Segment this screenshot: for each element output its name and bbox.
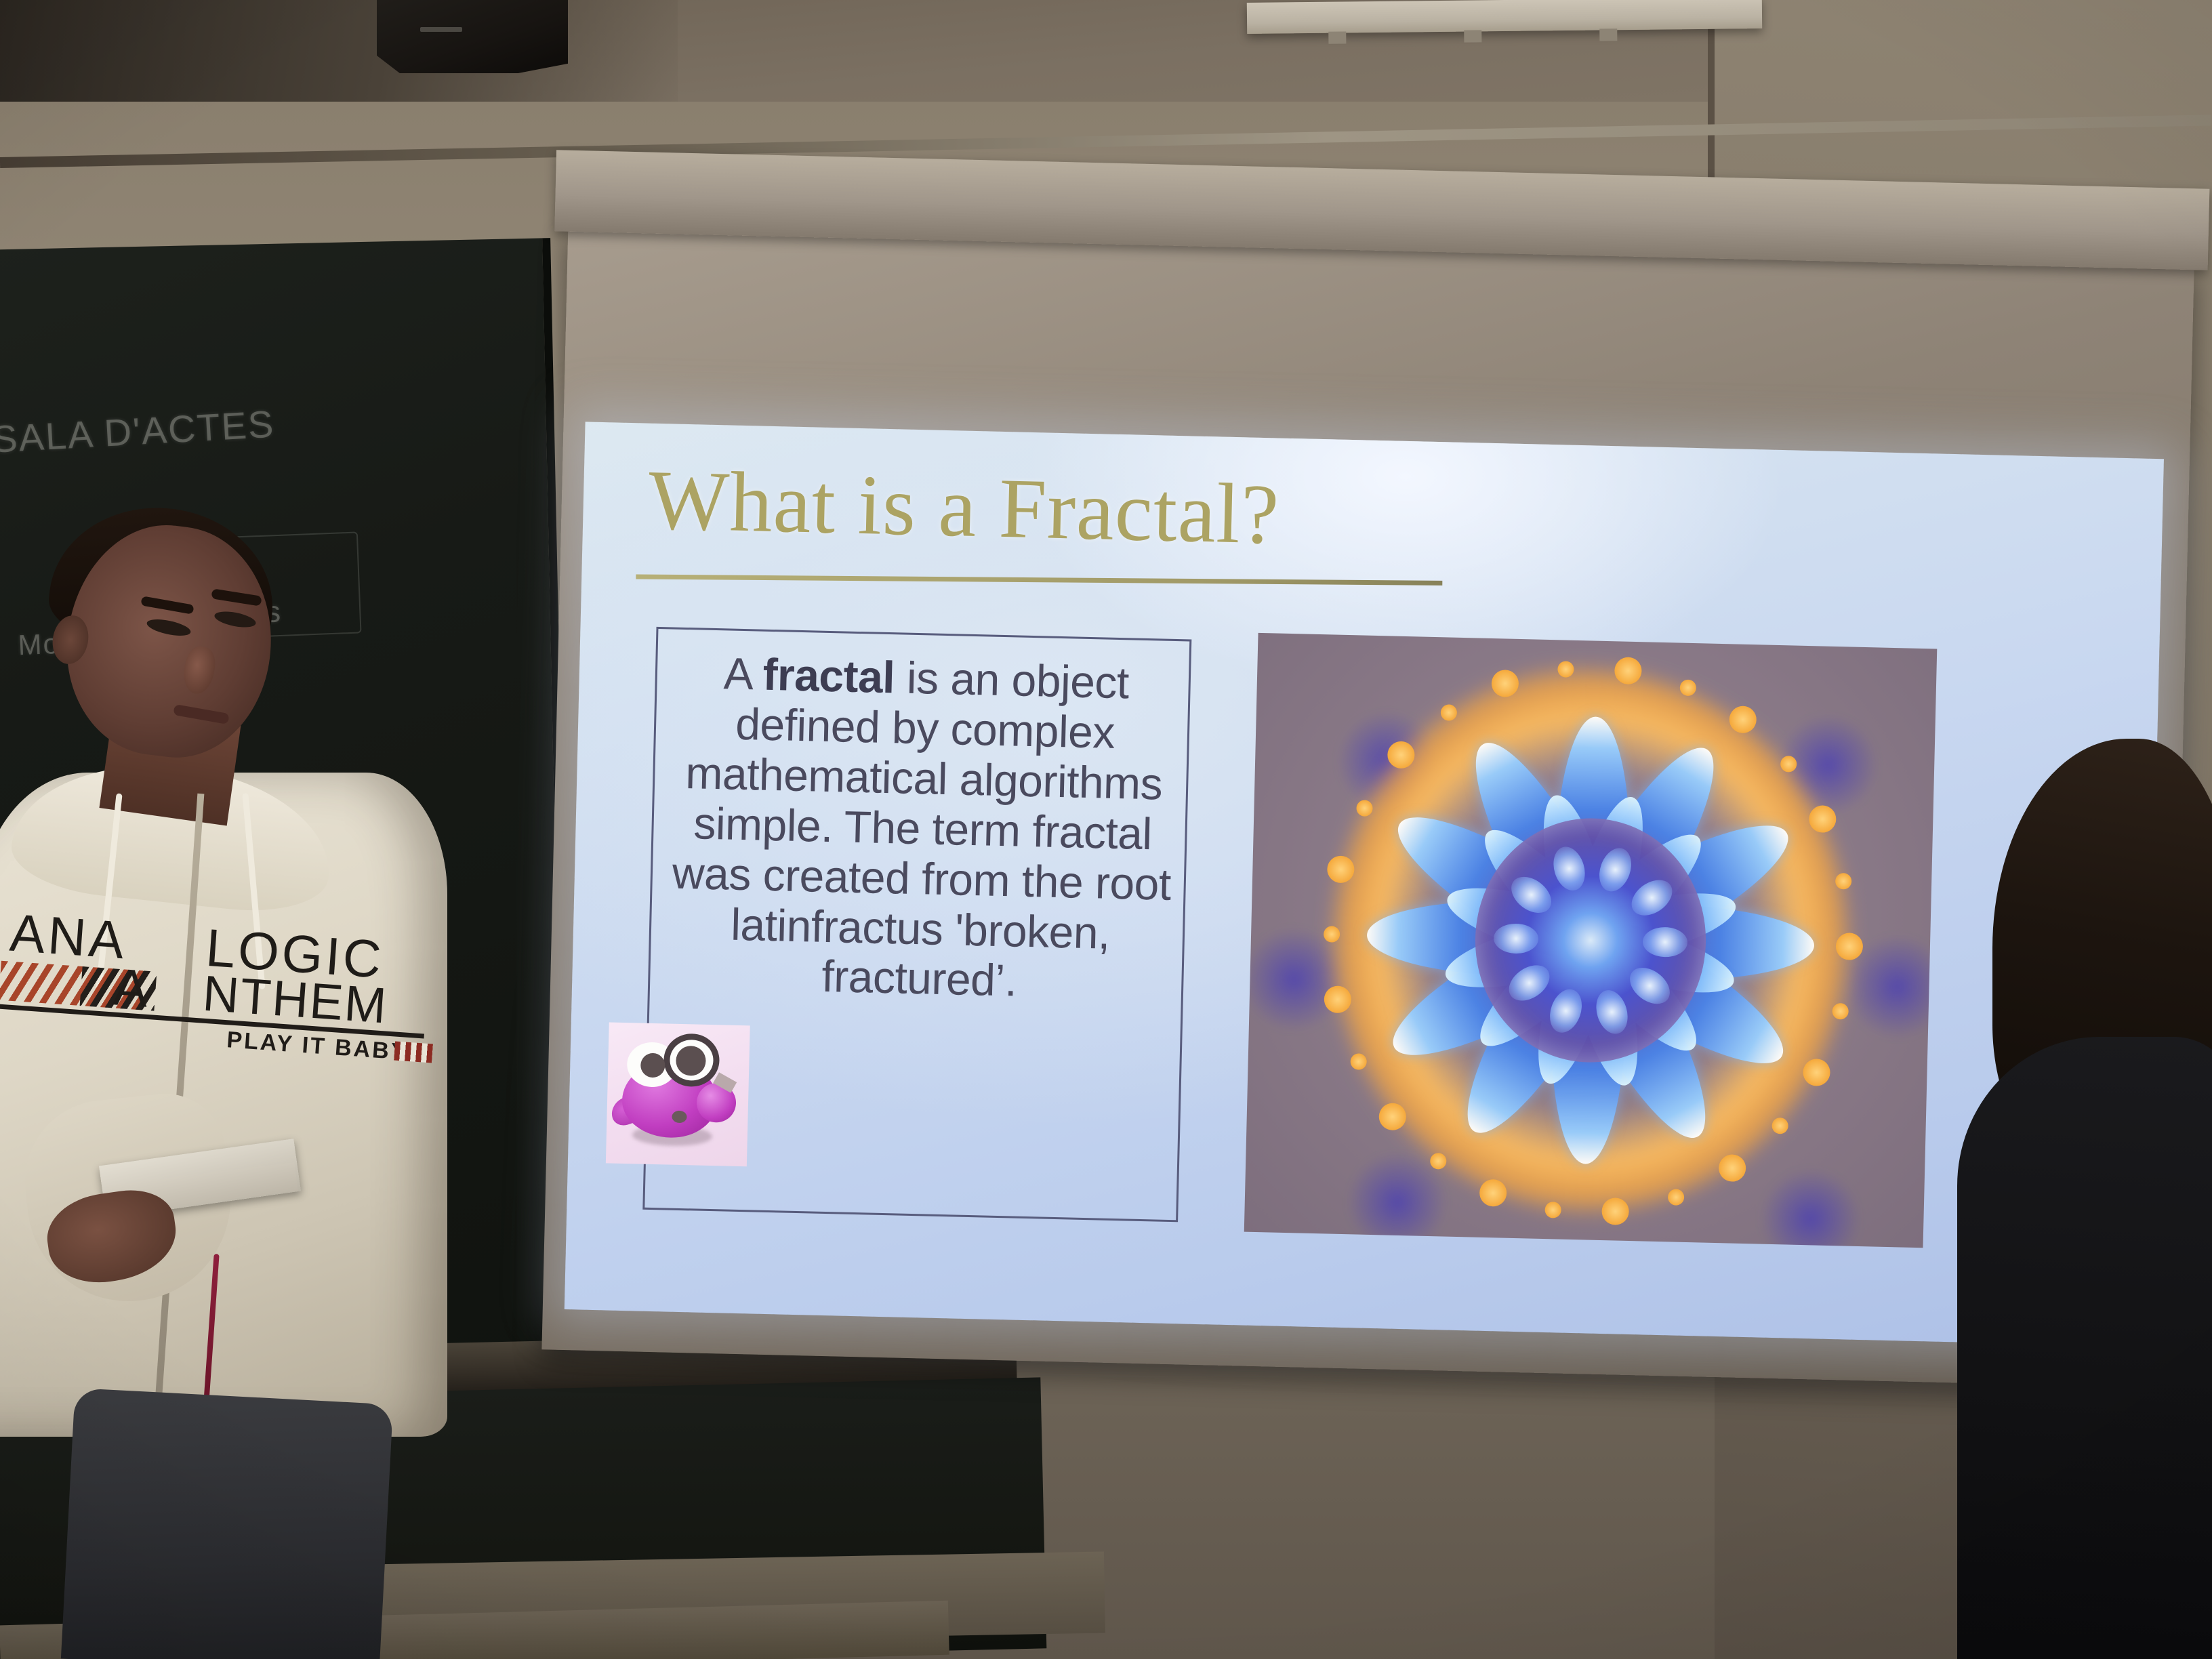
- fractal-edge-bead: [1350, 1053, 1367, 1070]
- foreground-person: [1952, 739, 2212, 1659]
- fractal-edge-bead: [1680, 680, 1697, 697]
- fractal-edge-bead: [1544, 1202, 1561, 1218]
- classroom-scene: SALA D'ACTES Mo Viernes 9 What is a Frac…: [0, 0, 2212, 1659]
- hoodie-logo: ANA LOGIC A NTHEM PLAY IT BABY: [0, 901, 438, 1073]
- student-jeans: [61, 1388, 393, 1659]
- fractal-edge-bead: [1809, 805, 1837, 833]
- fractal-inner-petals: [1258, 633, 1938, 649]
- fractal-bg-blob: [1759, 1167, 1862, 1248]
- fractal-outer-petals: [1258, 633, 1938, 649]
- fractal-edge-bead: [1668, 1189, 1685, 1206]
- speaker-badge: [420, 27, 462, 32]
- hoodie-brand-a: A: [112, 958, 150, 1019]
- presentation-slide: What is a Fractal? A fractal is an objec…: [565, 422, 2164, 1347]
- chalk-title-text: SALA D'ACTES: [0, 402, 276, 462]
- slide-title: What is a Fractal?: [647, 452, 1280, 565]
- wall-speaker: [377, 0, 568, 73]
- fractal-edge-bead: [1719, 1154, 1746, 1182]
- body-bold-word: fractal: [762, 649, 895, 703]
- fractal-edge-beads: [1258, 633, 1938, 649]
- hoodie-logo-flag: [394, 1042, 433, 1063]
- body-lead: A: [723, 648, 763, 699]
- wall-seam: [1708, 0, 1715, 203]
- slide-title-underline: [636, 575, 1442, 586]
- fractal-core-dots: [1258, 633, 1938, 649]
- foreground-person-torso: [1957, 1037, 2212, 1659]
- mascot-image: [606, 1022, 750, 1166]
- body-rest: is an object defined by complex mathemat…: [672, 652, 1171, 1006]
- fractal-edge-bead: [1832, 1003, 1849, 1020]
- ceiling-light-rail: [1247, 0, 1762, 34]
- student-presenter: ANA LOGIC A NTHEM PLAY IT BABY: [0, 501, 529, 1659]
- fractal-image: [1244, 633, 1938, 1248]
- fractal-edge-bead: [1729, 705, 1757, 733]
- fractal-edge-bead: [1491, 670, 1519, 697]
- fractal-edge-bead: [1803, 1059, 1830, 1086]
- fractal-edge-bead: [1430, 1153, 1447, 1170]
- slide-body-text: A fractal is an object defined by comple…: [661, 647, 1185, 1010]
- fractal-edge-bead: [1601, 1197, 1629, 1225]
- fractal-edge-bead: [1479, 1179, 1507, 1207]
- fractal-edge-bead: [1378, 1103, 1406, 1130]
- fractal-edge-bead: [1771, 1117, 1788, 1134]
- hoodie-brand-ana: ANA: [8, 902, 129, 972]
- fractal-edge-bead: [1835, 873, 1852, 890]
